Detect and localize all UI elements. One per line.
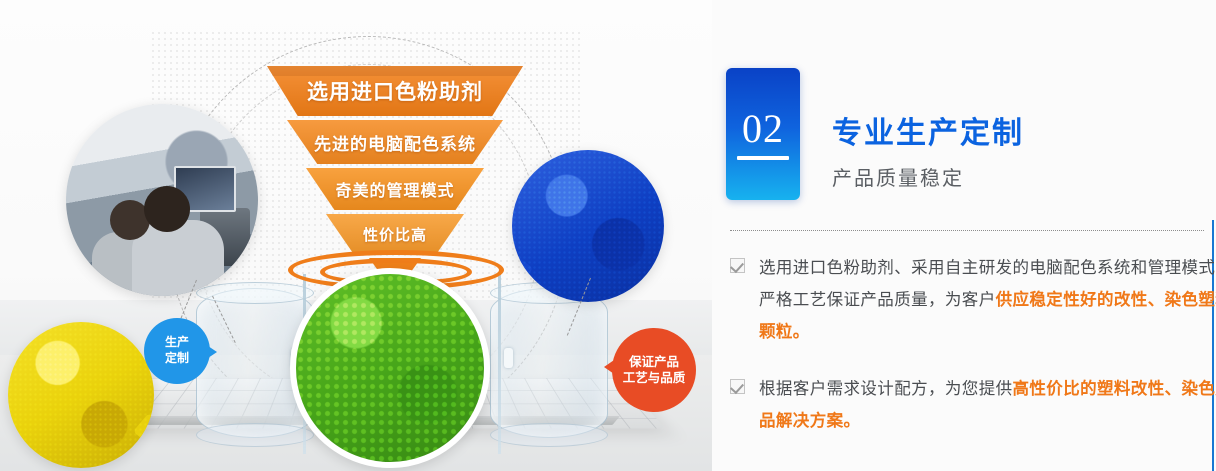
funnel-layer-2-label: 先进的电脑配色系统: [314, 130, 476, 155]
glass-cylinder-right: [490, 288, 608, 438]
illustration-area: 选用进口色粉助剂 先进的电脑配色系统 奇美的管理模式 性价比高: [0, 0, 712, 471]
badge-underline: [737, 156, 789, 160]
content-panel: 02 专业生产定制 产品质量稳定 选用进口色粉助剂、采用自主研发的电脑配色系统和…: [712, 0, 1216, 471]
funnel-layer-4-label: 性价比高: [363, 224, 427, 245]
lab-photo-disc: [66, 104, 258, 296]
funnel-layer-4: 性价比高: [326, 214, 464, 254]
callout-orange-line1: 保证产品: [629, 354, 679, 370]
funnel-layer-1: 选用进口色粉助剂: [267, 66, 523, 116]
page-title: 专业生产定制: [832, 108, 1024, 152]
list-item: 选用进口色粉助剂、采用自主研发的电脑配色系统和管理模式， 严格工艺保证产品质量，…: [730, 252, 1216, 349]
bullet-1-highlight-a: 供应稳定性好的改性、染色塑料: [996, 291, 1216, 309]
bullet-2-highlight-a: 高性价比的塑料改性、染色产: [1013, 380, 1216, 398]
dotted-divider: [730, 230, 1204, 231]
funnel-layer-1-label: 选用进口色粉助剂: [307, 76, 483, 106]
bullet-1-line-1: 选用进口色粉助剂、采用自主研发的电脑配色系统和管理模式，: [759, 259, 1216, 277]
checkbox-icon: [730, 379, 745, 394]
callout-blue-line1: 生产: [165, 335, 189, 351]
blue-powder-disc: [512, 150, 664, 302]
section-header: 02 专业生产定制 产品质量稳定: [726, 68, 1024, 200]
callout-quality-guarantee: 保证产品 工艺与品质: [612, 328, 696, 412]
yellow-powder-disc: [8, 322, 154, 468]
callout-blue-line2: 定制: [165, 351, 189, 367]
step-number: 02: [742, 109, 784, 149]
bullet-2-highlight-b: 品解决方案。: [759, 412, 860, 430]
promo-banner: 选用进口色粉助剂 先进的电脑配色系统 奇美的管理模式 性价比高: [0, 0, 1216, 471]
callout-production-customization: 生产 定制: [144, 318, 210, 384]
list-item: 根据客户需求设计配方，为您提供高性价比的塑料改性、染色产 品解决方案。: [730, 373, 1216, 437]
green-granule-disc: [290, 268, 490, 468]
funnel-layer-2: 先进的电脑配色系统: [287, 120, 503, 164]
callout-orange-line2: 工艺与品质: [623, 370, 686, 386]
bullet-1-highlight-b: 颗粒。: [759, 323, 810, 341]
bullet-1-line-2: 严格工艺保证产品质量，为客户: [759, 291, 996, 309]
funnel-layer-3-label: 奇美的管理模式: [335, 177, 454, 201]
funnel-layer-3: 奇美的管理模式: [306, 168, 484, 210]
feature-list: 选用进口色粉助剂、采用自主研发的电脑配色系统和管理模式， 严格工艺保证产品质量，…: [730, 252, 1216, 461]
step-number-badge: 02: [726, 68, 800, 200]
bullet-2-line-1: 根据客户需求设计配方，为您提供: [759, 380, 1013, 398]
checkbox-icon: [730, 258, 745, 273]
page-subtitle: 产品质量稳定: [832, 162, 1024, 191]
